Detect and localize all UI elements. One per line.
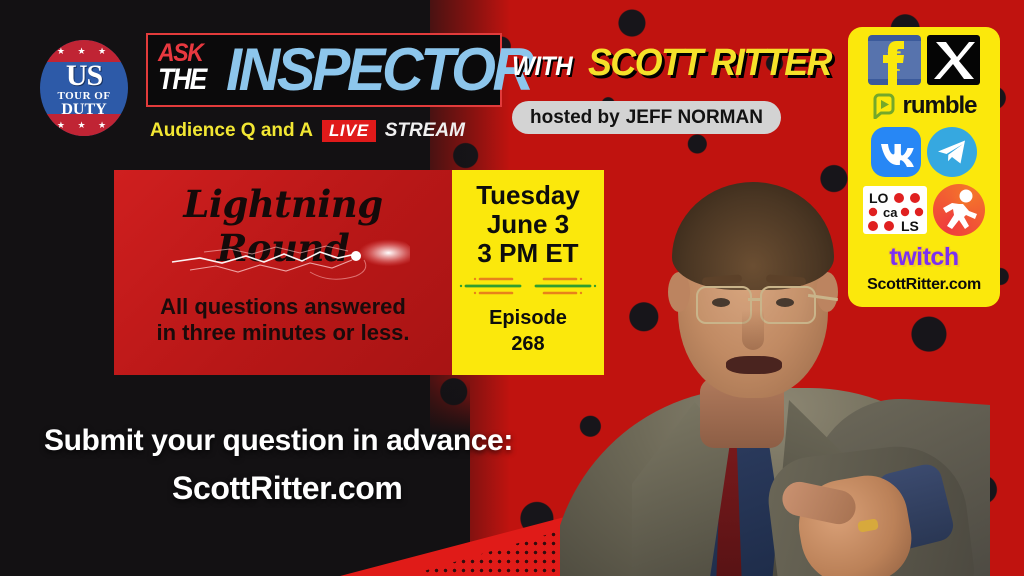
- host-pill: hosted by JEFF NORMAN: [512, 101, 781, 134]
- lightning-round-panel: Lightning Round All questions answered i…: [114, 170, 452, 375]
- locals-glyph: LO ca LS: [863, 186, 927, 234]
- schedule-date: June 3: [452, 210, 604, 239]
- logo-circle: ★ ★ ★ US TOUR OF DUTY ★ ★ ★: [40, 40, 128, 136]
- guest-with-label: WITH: [512, 51, 572, 82]
- telegram-glyph: [927, 127, 977, 177]
- social-row-4: LO ca LS: [848, 177, 1000, 236]
- svg-text:ca: ca: [883, 205, 898, 220]
- title-the: THE: [158, 63, 206, 97]
- guest-name: SCOTT RITTER: [588, 42, 831, 85]
- episode-number: 268: [452, 333, 604, 356]
- facebook-icon[interactable]: [868, 35, 921, 85]
- logo-us-text: US: [40, 62, 128, 90]
- svg-text:LO: LO: [869, 190, 889, 206]
- rumble-wordmark: rumble: [902, 92, 976, 120]
- schedule-time: 3 PM ET: [452, 239, 604, 268]
- cta-line1: Submit your question in advance:: [44, 424, 513, 458]
- show-title-box: ASK THE INSPECTOR: [146, 33, 502, 107]
- vk-glyph: [871, 127, 921, 177]
- segment-desc-line1: All questions answered: [114, 294, 452, 320]
- episode-label: Episode: [452, 307, 604, 330]
- odysee-figure-glyph: [933, 184, 985, 236]
- vk-icon[interactable]: [871, 127, 921, 177]
- twitch-icon[interactable]: twitch: [848, 236, 1000, 272]
- x-icon[interactable]: [927, 35, 980, 85]
- us-tour-of-duty-logo[interactable]: ★ ★ ★ US TOUR OF DUTY ★ ★ ★: [40, 40, 128, 136]
- lightning-bolt-graphic: [160, 232, 410, 284]
- host-prefix: hosted by: [530, 107, 620, 129]
- subtitle-audience: Audience Q and A: [150, 120, 313, 142]
- rumble-icon[interactable]: rumble: [848, 85, 1000, 120]
- guest-line: WITH SCOTT RITTER: [512, 42, 847, 85]
- photo-mouth: [726, 356, 782, 374]
- poster-canvas: ★ ★ ★ US TOUR OF DUTY ★ ★ ★ ASK THE INSP…: [0, 0, 1024, 576]
- social-row-1: [848, 27, 1000, 85]
- schedule-panel: Tuesday June 3 3 PM ET Episode 268: [452, 170, 604, 375]
- photo-right-lens: [760, 286, 816, 324]
- decorative-divider: [452, 273, 604, 299]
- schedule-top: Tuesday June 3 3 PM ET: [452, 181, 604, 268]
- host-name: JEFF NORMAN: [626, 107, 763, 129]
- subtitle-stream: STREAM: [385, 120, 465, 142]
- photo-glasses-bridge: [748, 298, 760, 301]
- x-glyph: [927, 35, 980, 85]
- social-row-3: [848, 120, 1000, 177]
- locals-icon[interactable]: LO ca LS: [863, 186, 927, 234]
- facebook-f-glyph: [868, 35, 921, 85]
- rumble-play-glyph: [871, 93, 897, 119]
- social-website-link[interactable]: ScottRitter.com: [848, 272, 1000, 294]
- segment-desc-line2: in three minutes or less.: [114, 320, 452, 346]
- social-links-panel: rumble LO ca: [848, 27, 1000, 307]
- logo-bottom-stars: ★ ★ ★: [40, 114, 128, 136]
- show-subtitle: Audience Q and A LIVE STREAM: [150, 118, 465, 144]
- title-inspector: INSPECTOR: [226, 37, 531, 103]
- schedule-day: Tuesday: [452, 181, 604, 210]
- odysee-icon[interactable]: [933, 184, 985, 236]
- telegram-icon[interactable]: [927, 127, 977, 177]
- cta-line2[interactable]: ScottRitter.com: [172, 470, 403, 507]
- photo-hair: [672, 182, 834, 290]
- photo-nose: [742, 310, 764, 350]
- live-badge: LIVE: [322, 120, 376, 142]
- svg-text:LS: LS: [901, 218, 919, 234]
